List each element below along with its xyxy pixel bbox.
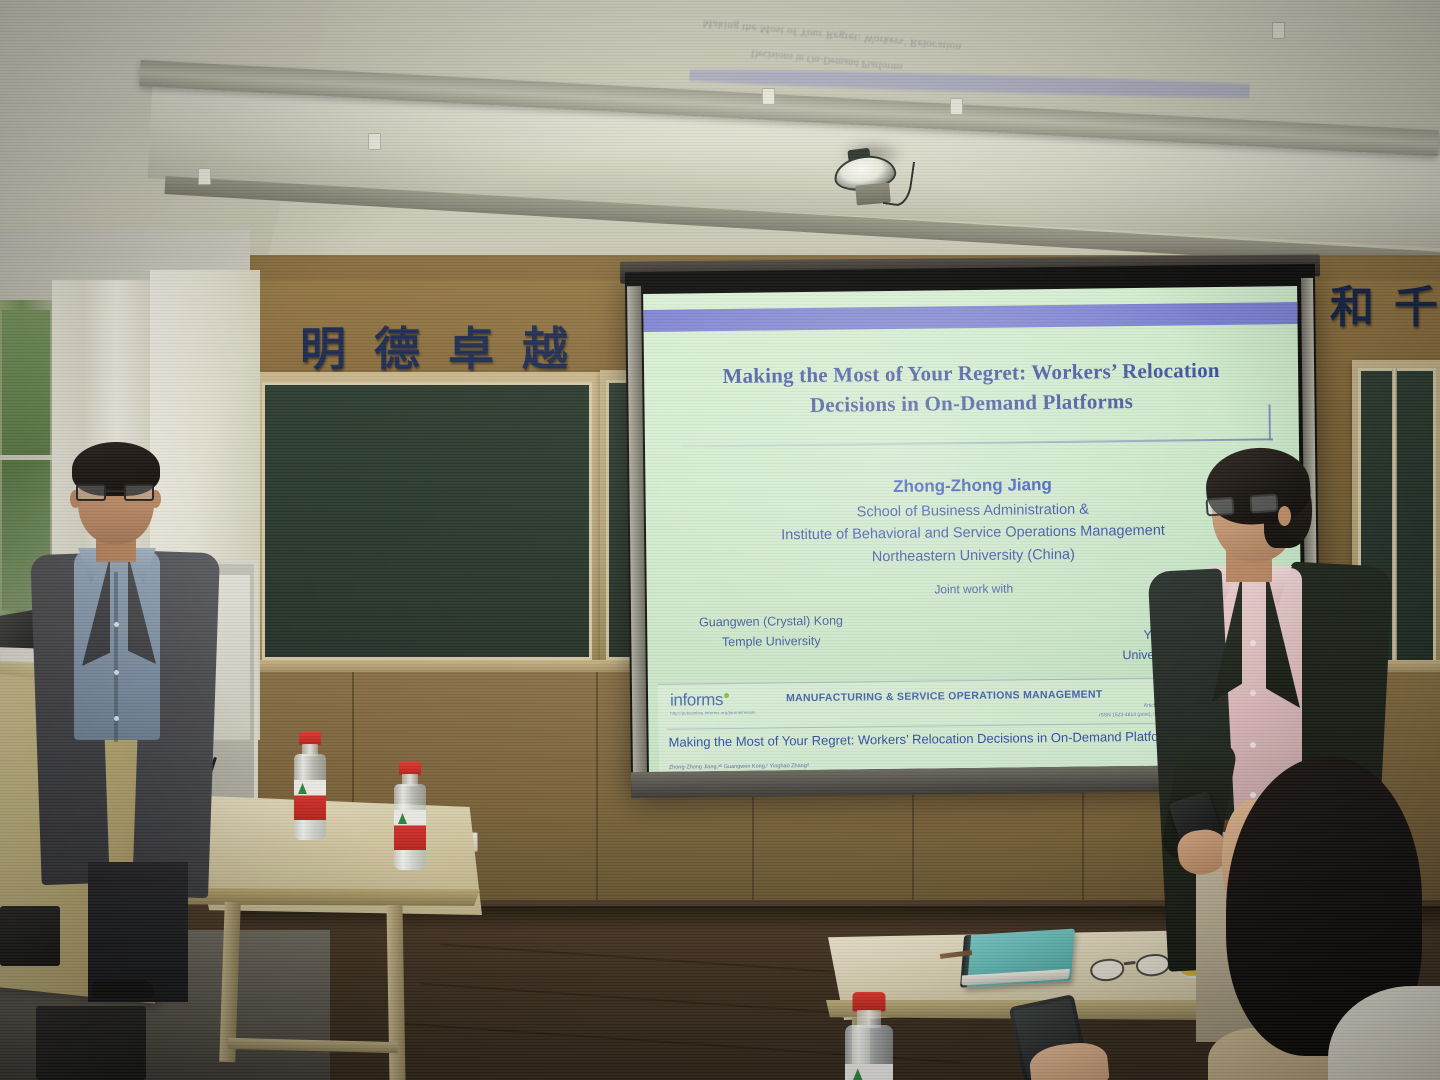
slide-accent-band bbox=[643, 302, 1297, 332]
glasses-lens-right bbox=[1249, 494, 1278, 514]
ceiling-clip bbox=[198, 168, 211, 185]
ceiling-clip bbox=[1272, 22, 1285, 39]
slide-title: Making the Most of Your Regret: Workers’… bbox=[668, 354, 1275, 422]
shirt-button bbox=[114, 622, 119, 627]
chalkboard-left bbox=[262, 382, 592, 660]
bottle-cap bbox=[853, 992, 886, 1012]
presenter-left bbox=[30, 432, 220, 992]
motto-right-char-1: 和 bbox=[1330, 286, 1374, 330]
shirt-button bbox=[1250, 690, 1256, 696]
coauthor-1-name: Guangwen (Crystal) Kong bbox=[699, 610, 843, 636]
glasses-lens-right bbox=[124, 484, 154, 501]
shirt-button bbox=[1250, 640, 1256, 646]
ceiling-clip bbox=[368, 133, 381, 150]
presenter-left-shoe bbox=[92, 980, 154, 998]
eyeglasses-lens-left bbox=[1089, 957, 1125, 982]
motto-char-3: 卓 bbox=[448, 326, 494, 372]
slide-divider-tick bbox=[1269, 404, 1271, 440]
seminar-room-photo: Making the Most of Your Regret: Workers’… bbox=[0, 0, 1440, 1080]
informs-url: http://pubsonline.informs.org/journal/ms… bbox=[670, 710, 755, 716]
shirt-button bbox=[114, 716, 119, 721]
attendee-hand-with-phone bbox=[1000, 1000, 1140, 1080]
glasses-lens-left bbox=[76, 484, 106, 501]
motto-char-4: 越 bbox=[522, 326, 568, 372]
glasses-lens-left bbox=[1205, 497, 1234, 517]
wall-panel-seam bbox=[596, 672, 598, 912]
shirt-button bbox=[114, 670, 119, 675]
bottle-label bbox=[294, 780, 326, 820]
informs-logo-dot bbox=[724, 693, 729, 698]
presenter-left-eyeglasses bbox=[76, 484, 156, 501]
coauthor-1-org: Temple University bbox=[699, 633, 843, 649]
glasses-bridge bbox=[106, 490, 124, 492]
informs-wordmark: informs bbox=[670, 690, 723, 710]
left-table-leg bbox=[386, 905, 405, 1080]
wall-motto: 明 德 卓 越 bbox=[300, 318, 600, 380]
equipment-case bbox=[36, 1006, 146, 1080]
coauthor-1: Guangwen (Crystal) Kong Temple Universit… bbox=[699, 610, 843, 650]
shirt-button bbox=[1250, 742, 1256, 748]
ceiling-projector bbox=[830, 148, 904, 196]
journal-name: MANUFACTURING & SERVICE OPERATIONS MANAG… bbox=[786, 687, 1206, 704]
eyeglasses-bridge bbox=[1124, 961, 1136, 965]
bottle-label bbox=[845, 1064, 893, 1080]
attendee-seated bbox=[1208, 756, 1440, 1080]
notebook[interactable] bbox=[963, 929, 1075, 988]
motto-char-2: 德 bbox=[374, 326, 420, 372]
motto-right-char-2: 千 bbox=[1394, 286, 1438, 330]
ceiling-clip bbox=[762, 88, 775, 105]
ceiling-clip bbox=[950, 98, 963, 115]
wall-motto-right: 和 千 bbox=[1330, 276, 1440, 340]
motto-char-1: 明 bbox=[300, 326, 346, 372]
informs-logo: informs bbox=[670, 690, 729, 711]
bottle-label bbox=[394, 810, 426, 850]
